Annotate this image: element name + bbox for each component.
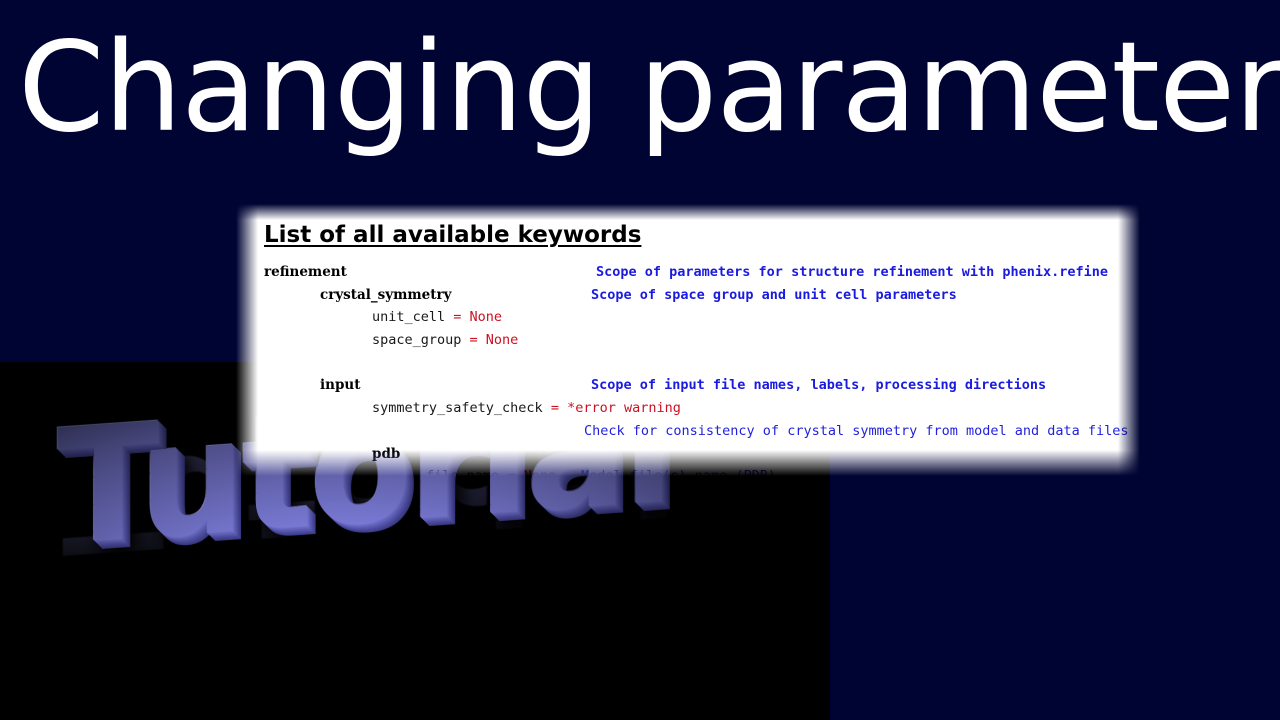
keyword-param-name: space_group [372, 332, 461, 348]
keyword-row: space_group = None [236, 334, 1140, 357]
keyword-scope-name: pdb [372, 446, 400, 462]
keyword-scope-name: refinement [264, 264, 347, 280]
keyword-param-name: symmetry_safety_check [372, 400, 543, 416]
keyword-description: Check for consistency of crystal symmetr… [584, 425, 1129, 439]
keyword-row: pdb [236, 448, 1140, 471]
keyword-row: inputScope of input file names, labels, … [236, 379, 1140, 402]
keyword-description: Scope of space group and unit cell param… [591, 289, 957, 303]
keyword-row: refinementScope of parameters for struct… [236, 266, 1140, 289]
keyword-equals-sign: = [543, 400, 567, 416]
keyword-value: *error warning [567, 400, 681, 416]
keyword-row: unit_cell = None [236, 311, 1140, 334]
keyword-value: None [524, 468, 557, 476]
panel-heading: List of all available keywords [264, 222, 641, 248]
keyword-equals-sign: = [499, 468, 523, 476]
keyword-row: crystal_symmetryScope of space group and… [236, 289, 1140, 312]
keyword-description: Scope of parameters for structure refine… [596, 266, 1108, 280]
keywords-panel: List of all available keywords refinemen… [236, 204, 1140, 476]
keyword-description: Model file(s) name (PDB) [581, 470, 776, 476]
keyword-row: Check for consistency of crystal symmetr… [236, 425, 1140, 448]
keyword-row: file_name = NoneModel file(s) name (PDB) [236, 470, 1140, 476]
keyword-scope-name: input [320, 377, 360, 393]
keyword-description: Scope of input file names, labels, proce… [591, 379, 1046, 393]
page-title: Changing parameters [18, 26, 1268, 150]
keyword-list: refinementScope of parameters for struct… [236, 266, 1140, 476]
keyword-param-name: unit_cell [372, 309, 445, 325]
keyword-row [236, 357, 1140, 380]
slide-root: Changing parameters Tutorial Tutorial Li… [0, 0, 1280, 720]
keyword-scope-name: crystal_symmetry [320, 287, 451, 303]
keyword-param-name: file_name [426, 468, 499, 476]
keyword-equals-sign: = [445, 309, 469, 325]
keyword-value: None [486, 332, 519, 348]
keyword-row: symmetry_safety_check = *error warning [236, 402, 1140, 425]
keyword-value: None [470, 309, 503, 325]
keyword-equals-sign: = [461, 332, 485, 348]
